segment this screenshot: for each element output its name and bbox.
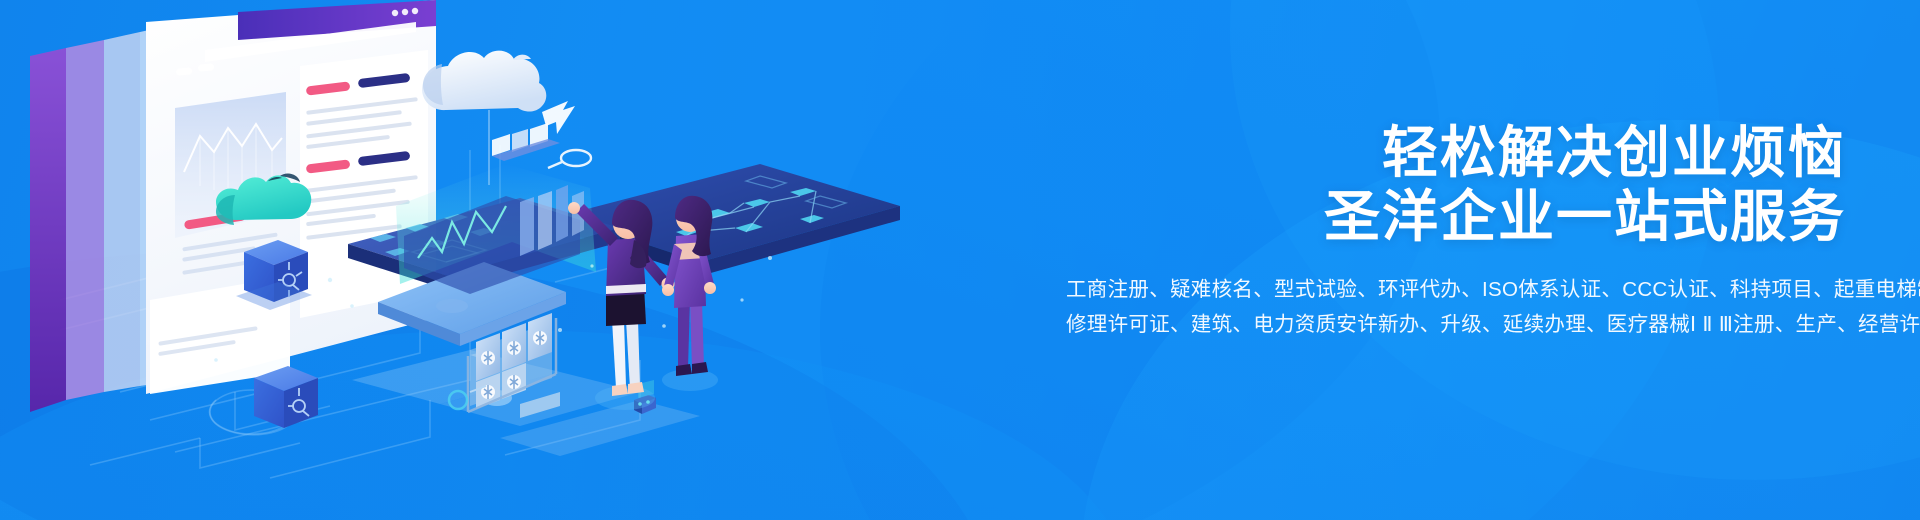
headline-line-1: 轻松解决创业烦恼 [1066,122,1846,184]
service-list-line-2: 修理许可证、建筑、电力资质安许新办、升级、延续办理、医疗器械Ⅰ Ⅱ Ⅲ注册、生产… [1066,309,1846,340]
magnifier-icon [548,150,591,168]
hologram-bar-chart [492,123,560,161]
promo-banner: 轻松解决创业烦恼 圣洋企业一站式服务 工商注册、疑难核名、型式试验、环评代办、I… [0,0,1920,520]
copy-block: 轻松解决创业烦恼 圣洋企业一站式服务 工商注册、疑难核名、型式试验、环评代办、I… [1066,122,1846,340]
service-list: 工商注册、疑难核名、型式试验、环评代办、ISO体系认证、CCC认证、科持项目、起… [1066,274,1846,340]
service-list-line-1: 工商注册、疑难核名、型式试验、环评代办、ISO体系认证、CCC认证、科持项目、起… [1066,274,1846,305]
white-cloud-icon [422,51,546,112]
headline-line-2: 圣洋企业一站式服务 [1066,186,1846,248]
hero-illustration [0,0,1000,520]
